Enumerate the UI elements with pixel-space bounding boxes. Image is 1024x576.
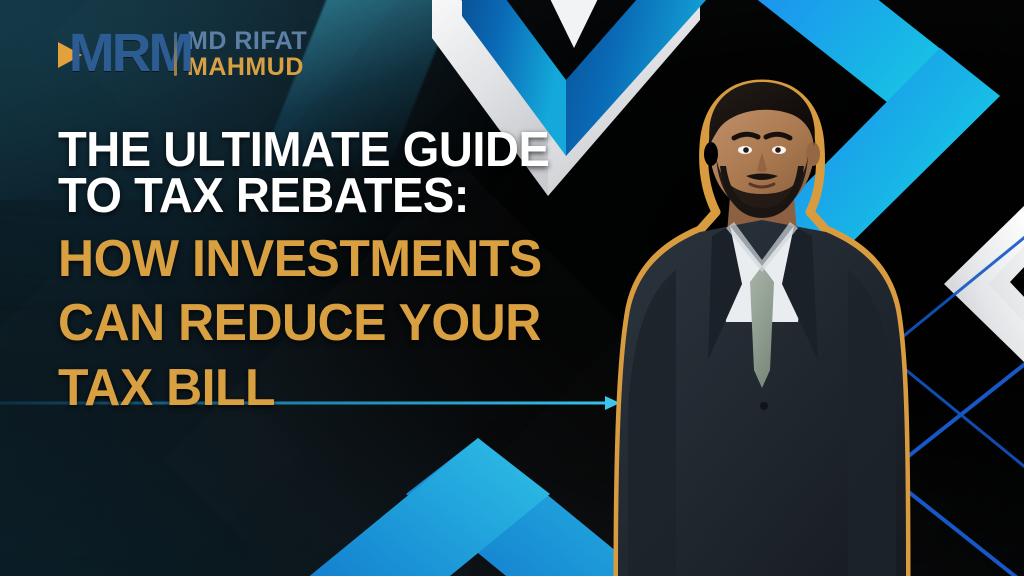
portrait-ear-left	[704, 142, 718, 166]
portrait-jacket-button	[760, 402, 768, 410]
headline-gold-line-1: HOW INVESTMENTS	[58, 235, 634, 283]
brand-logo[interactable]: MRM MD RIFAT MAHMUD	[58, 28, 307, 80]
logo-divider	[174, 32, 177, 76]
headline-white-line-2: TO TAX REBATES:	[58, 174, 634, 220]
headline-white-line-1: THE ULTIMATE GUIDE	[58, 128, 634, 174]
headline-gold-line-2: CAN REDUCE YOUR	[58, 299, 634, 347]
logo-monogram-text: MRM	[69, 22, 191, 84]
chevron-white-right	[944, 178, 1024, 386]
thumbnail-canvas: MRM MD RIFAT MAHMUD THE ULTIMATE GUIDE T…	[0, 0, 1024, 576]
headline-gold-line-3: TAX BILL	[58, 364, 634, 412]
logo-name-line-1: MD RIFAT	[187, 29, 307, 54]
headline-block: THE ULTIMATE GUIDE TO TAX REBATES: HOW I…	[58, 128, 658, 412]
portrait-pupil-right	[775, 147, 781, 153]
logo-monogram-mark: MRM	[58, 28, 166, 80]
portrait-pupil-left	[743, 147, 749, 153]
logo-name-line-2: MAHMUD	[187, 55, 307, 80]
logo-name-block: MD RIFAT MAHMUD	[187, 29, 307, 80]
portrait-ear-right	[806, 142, 820, 166]
